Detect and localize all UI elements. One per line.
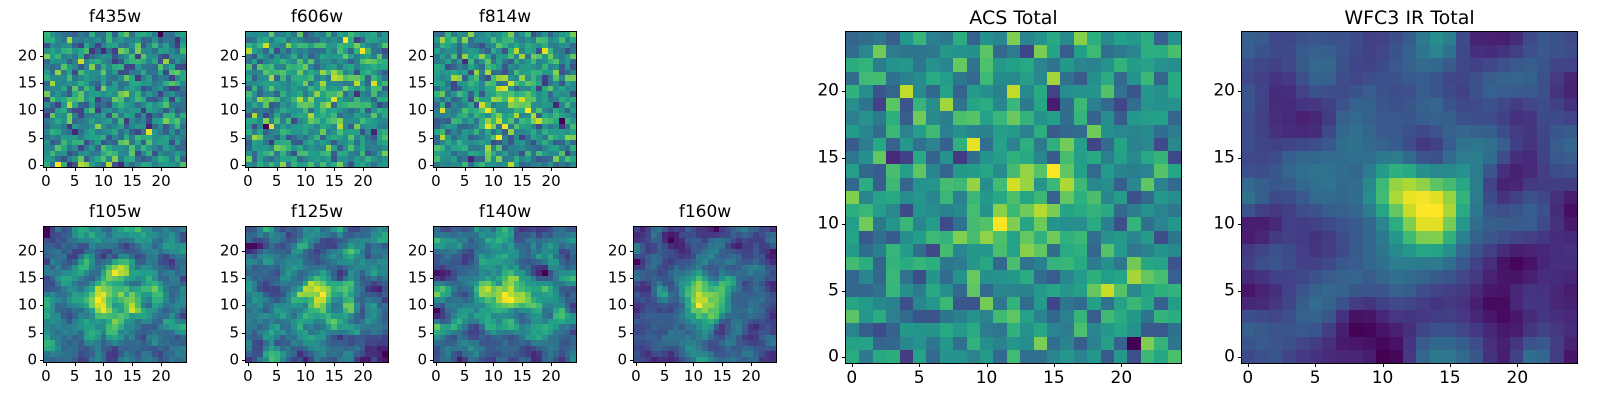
x-tickmark-wfc3-ir-total-20: [1517, 364, 1518, 367]
y-tickmark-wfc3-ir-total-5: [1238, 291, 1241, 292]
heatmap-image-f435w: [44, 32, 186, 167]
x-tickmark-f160w-0: [636, 363, 637, 366]
y-tickmark-f140w-15: [430, 278, 433, 279]
x-tickmark-f435w-0: [46, 168, 47, 171]
y-tick-label-f606w-5: 5: [200, 129, 239, 146]
heatmap-image-f105w: [44, 227, 186, 362]
x-tickmark-f105w-10: [103, 363, 104, 366]
y-tickmark-f140w-10: [430, 305, 433, 306]
y-tick-label-f140w-10: 10: [388, 297, 427, 314]
x-tick-label-f435w-5: 5: [70, 173, 80, 190]
y-tickmark-f105w-10: [40, 305, 43, 306]
y-tick-label-f125w-15: 15: [200, 270, 239, 287]
panel-title-acs-total: ACS Total: [845, 7, 1182, 29]
x-tickmark-acs-total-0: [852, 364, 853, 367]
y-tickmark-f435w-5: [40, 138, 43, 139]
x-tick-label-f814w-0: 0: [431, 173, 441, 190]
x-tick-label-f140w-10: 10: [484, 368, 503, 385]
y-tickmark-f140w-20: [430, 251, 433, 252]
y-tickmark-f105w-15: [40, 278, 43, 279]
x-tickmark-f125w-15: [334, 363, 335, 366]
x-tick-label-f814w-20: 20: [542, 173, 561, 190]
heatmap-image-f160w: [634, 227, 776, 362]
y-tickmark-f125w-15: [242, 278, 245, 279]
y-tick-label-f105w-5: 5: [0, 324, 37, 341]
heatmap-image-f814w: [434, 32, 576, 167]
x-tick-label-f105w-10: 10: [94, 368, 113, 385]
y-tickmark-f606w-20: [242, 56, 245, 57]
y-tickmark-wfc3-ir-total-15: [1238, 158, 1241, 159]
y-tickmark-f140w-5: [430, 333, 433, 334]
y-tickmark-f160w-10: [630, 305, 633, 306]
y-tick-label-f814w-10: 10: [388, 102, 427, 119]
y-tick-label-f606w-10: 10: [200, 102, 239, 119]
heatmap-axes-f435w: [43, 31, 187, 168]
y-tick-label-f606w-15: 15: [200, 75, 239, 92]
y-tick-label-wfc3-ir-total-15: 15: [1196, 148, 1235, 167]
x-tick-label-acs-total-10: 10: [976, 369, 998, 388]
y-tickmark-f105w-5: [40, 333, 43, 334]
x-tick-label-f606w-0: 0: [243, 173, 253, 190]
x-tick-label-f140w-0: 0: [431, 368, 441, 385]
panel-title-f125w: f125w: [245, 202, 389, 222]
x-tick-label-wfc3-ir-total-15: 15: [1439, 369, 1461, 388]
x-tick-label-f814w-15: 15: [513, 173, 532, 190]
x-tickmark-acs-total-10: [987, 364, 988, 367]
x-tick-label-wfc3-ir-total-0: 0: [1242, 369, 1253, 388]
panel-f140w: f140w0510152005101520: [388, 202, 592, 389]
x-tickmark-f606w-20: [363, 168, 364, 171]
y-tick-label-f160w-10: 10: [588, 297, 627, 314]
heatmap-axes-f105w: [43, 226, 187, 363]
heatmap-image-f140w: [434, 227, 576, 362]
y-tickmark-f814w-5: [430, 138, 433, 139]
x-tickmark-f435w-20: [161, 168, 162, 171]
x-tick-label-wfc3-ir-total-5: 5: [1310, 369, 1321, 388]
y-tick-label-f140w-20: 20: [388, 242, 427, 259]
x-tick-label-f125w-10: 10: [296, 368, 315, 385]
y-tickmark-acs-total-5: [842, 291, 845, 292]
y-tickmark-acs-total-10: [842, 224, 845, 225]
x-tick-label-acs-total-15: 15: [1043, 369, 1065, 388]
y-tickmark-f814w-20: [430, 56, 433, 57]
x-tick-label-f140w-5: 5: [460, 368, 470, 385]
x-tick-label-f606w-10: 10: [296, 173, 315, 190]
heatmap-axes-f140w: [433, 226, 577, 363]
x-tickmark-f606w-10: [305, 168, 306, 171]
y-tickmark-acs-total-15: [842, 158, 845, 159]
y-tick-label-f435w-20: 20: [0, 47, 37, 64]
x-tick-label-f814w-5: 5: [460, 173, 470, 190]
panel-f160w: f160w0510152005101520: [588, 202, 792, 389]
x-tick-label-f105w-5: 5: [70, 368, 80, 385]
x-tickmark-f105w-15: [132, 363, 133, 366]
panel-title-f606w: f606w: [245, 7, 389, 27]
x-tick-label-f140w-20: 20: [542, 368, 561, 385]
y-tick-label-acs-total-0: 0: [800, 348, 839, 367]
x-tickmark-f814w-10: [493, 168, 494, 171]
heatmap-image-f125w: [246, 227, 388, 362]
y-tick-label-f435w-10: 10: [0, 102, 37, 119]
y-tickmark-acs-total-20: [842, 91, 845, 92]
x-tickmark-f140w-0: [436, 363, 437, 366]
panel-title-wfc3-ir-total: WFC3 IR Total: [1241, 7, 1578, 29]
x-tick-label-wfc3-ir-total-10: 10: [1372, 369, 1394, 388]
x-tickmark-f105w-0: [46, 363, 47, 366]
x-tickmark-f105w-5: [75, 363, 76, 366]
y-tickmark-f435w-15: [40, 83, 43, 84]
x-tickmark-f140w-10: [493, 363, 494, 366]
y-tick-label-f606w-20: 20: [200, 47, 239, 64]
y-tick-label-f814w-20: 20: [388, 47, 427, 64]
y-tickmark-f160w-20: [630, 251, 633, 252]
y-tick-label-f435w-0: 0: [0, 157, 37, 174]
y-tick-label-acs-total-20: 20: [800, 81, 839, 100]
panel-f606w: f606w0510152005101520: [200, 7, 404, 194]
panel-title-f160w: f160w: [633, 202, 777, 222]
y-tick-label-f160w-20: 20: [588, 242, 627, 259]
x-tickmark-f160w-10: [693, 363, 694, 366]
y-tick-label-f606w-0: 0: [200, 157, 239, 174]
y-tick-label-f814w-5: 5: [388, 129, 427, 146]
y-tickmark-acs-total-0: [842, 357, 845, 358]
panel-title-f105w: f105w: [43, 202, 187, 222]
y-tick-label-f140w-15: 15: [388, 270, 427, 287]
x-tickmark-f125w-20: [363, 363, 364, 366]
y-tickmark-f125w-5: [242, 333, 245, 334]
x-tickmark-f160w-20: [751, 363, 752, 366]
y-tickmark-f160w-5: [630, 333, 633, 334]
heatmap-image-acs-total: [846, 32, 1181, 363]
panel-title-f814w: f814w: [433, 7, 577, 27]
y-tick-label-acs-total-15: 15: [800, 148, 839, 167]
x-tick-label-f160w-15: 15: [713, 368, 732, 385]
x-tickmark-wfc3-ir-total-15: [1450, 364, 1451, 367]
x-tickmark-f606w-5: [277, 168, 278, 171]
y-tickmark-f606w-10: [242, 110, 245, 111]
x-tickmark-acs-total-15: [1054, 364, 1055, 367]
y-tickmark-wfc3-ir-total-0: [1238, 357, 1241, 358]
x-tickmark-f606w-15: [334, 168, 335, 171]
y-tick-label-f814w-15: 15: [388, 75, 427, 92]
x-tick-label-wfc3-ir-total-20: 20: [1507, 369, 1529, 388]
x-tick-label-f435w-15: 15: [123, 173, 142, 190]
y-tick-label-f160w-15: 15: [588, 270, 627, 287]
x-tickmark-f140w-5: [465, 363, 466, 366]
x-tick-label-f105w-0: 0: [41, 368, 51, 385]
x-tick-label-f160w-0: 0: [631, 368, 641, 385]
panel-f435w: f435w0510152005101520: [0, 7, 202, 194]
x-tick-label-f814w-10: 10: [484, 173, 503, 190]
panel-acs-total: ACS Total0510152005101520: [800, 7, 1197, 390]
y-tickmark-f105w-0: [40, 360, 43, 361]
x-tickmark-f160w-15: [722, 363, 723, 366]
panel-wfc3-ir-total: WFC3 IR Total0510152005101520: [1196, 7, 1593, 390]
y-tick-label-f125w-5: 5: [200, 324, 239, 341]
panel-title-f140w: f140w: [433, 202, 577, 222]
y-tickmark-f105w-20: [40, 251, 43, 252]
y-tick-label-f140w-0: 0: [388, 352, 427, 369]
panel-f125w: f125w0510152005101520: [200, 202, 404, 389]
y-tickmark-f125w-20: [242, 251, 245, 252]
y-tickmark-f160w-15: [630, 278, 633, 279]
x-tick-label-f105w-20: 20: [152, 368, 171, 385]
x-tick-label-f435w-20: 20: [152, 173, 171, 190]
x-tick-label-f160w-10: 10: [684, 368, 703, 385]
y-tick-label-f125w-0: 0: [200, 352, 239, 369]
x-tick-label-f125w-5: 5: [272, 368, 282, 385]
y-tick-label-f105w-10: 10: [0, 297, 37, 314]
y-tickmark-f160w-0: [630, 360, 633, 361]
y-tickmark-f606w-5: [242, 138, 245, 139]
x-tick-label-f606w-5: 5: [272, 173, 282, 190]
y-tick-label-f125w-20: 20: [200, 242, 239, 259]
y-tick-label-f105w-15: 15: [0, 270, 37, 287]
y-tickmark-f435w-10: [40, 110, 43, 111]
y-tick-label-f160w-5: 5: [588, 324, 627, 341]
y-tick-label-f160w-0: 0: [588, 352, 627, 369]
y-tick-label-f435w-15: 15: [0, 75, 37, 92]
x-tickmark-f814w-20: [551, 168, 552, 171]
y-tickmark-f606w-15: [242, 83, 245, 84]
x-tickmark-f435w-15: [132, 168, 133, 171]
y-tick-label-f140w-5: 5: [388, 324, 427, 341]
y-tickmark-wfc3-ir-total-20: [1238, 91, 1241, 92]
x-tick-label-acs-total-0: 0: [846, 369, 857, 388]
x-tickmark-f814w-5: [465, 168, 466, 171]
x-tick-label-f435w-0: 0: [41, 173, 51, 190]
x-tickmark-f435w-10: [103, 168, 104, 171]
y-tickmark-f125w-10: [242, 305, 245, 306]
heatmap-image-wfc3-ir-total: [1242, 32, 1577, 363]
x-tick-label-f435w-10: 10: [94, 173, 113, 190]
y-tick-label-f105w-20: 20: [0, 242, 37, 259]
y-tickmark-f140w-0: [430, 360, 433, 361]
y-tick-label-f105w-0: 0: [0, 352, 37, 369]
x-tick-label-f125w-20: 20: [354, 368, 373, 385]
y-tick-label-f125w-10: 10: [200, 297, 239, 314]
y-tickmark-f606w-0: [242, 165, 245, 166]
x-tick-label-acs-total-5: 5: [914, 369, 925, 388]
x-tick-label-f125w-0: 0: [243, 368, 253, 385]
y-tick-label-acs-total-10: 10: [800, 215, 839, 234]
x-tickmark-acs-total-20: [1121, 364, 1122, 367]
heatmap-axes-f160w: [633, 226, 777, 363]
y-tickmark-f125w-0: [242, 360, 245, 361]
x-tickmark-f435w-5: [75, 168, 76, 171]
x-tickmark-f814w-15: [522, 168, 523, 171]
x-tick-label-f105w-15: 15: [123, 368, 142, 385]
x-tick-label-f606w-15: 15: [325, 173, 344, 190]
heatmap-image-f606w: [246, 32, 388, 167]
heatmap-axes-acs-total: [845, 31, 1182, 364]
heatmap-axes-wfc3-ir-total: [1241, 31, 1578, 364]
y-tickmark-f435w-20: [40, 56, 43, 57]
x-tickmark-acs-total-5: [919, 364, 920, 367]
panel-title-f435w: f435w: [43, 7, 187, 27]
x-tick-label-f606w-20: 20: [354, 173, 373, 190]
x-tick-label-f160w-20: 20: [742, 368, 761, 385]
x-tick-label-f160w-5: 5: [660, 368, 670, 385]
panel-f814w: f814w0510152005101520: [388, 7, 592, 194]
x-tickmark-f125w-0: [248, 363, 249, 366]
y-tick-label-wfc3-ir-total-10: 10: [1196, 215, 1235, 234]
x-tick-label-f140w-15: 15: [513, 368, 532, 385]
x-tickmark-f125w-10: [305, 363, 306, 366]
y-tick-label-wfc3-ir-total-0: 0: [1196, 348, 1235, 367]
heatmap-axes-f125w: [245, 226, 389, 363]
x-tickmark-wfc3-ir-total-10: [1383, 364, 1384, 367]
y-tick-label-f814w-0: 0: [388, 157, 427, 174]
y-tickmark-f814w-0: [430, 165, 433, 166]
x-tickmark-f140w-20: [551, 363, 552, 366]
y-tick-label-wfc3-ir-total-20: 20: [1196, 81, 1235, 100]
x-tickmark-wfc3-ir-total-0: [1248, 364, 1249, 367]
heatmap-axes-f606w: [245, 31, 389, 168]
x-tick-label-acs-total-20: 20: [1111, 369, 1133, 388]
y-tickmark-f814w-10: [430, 110, 433, 111]
x-tickmark-f814w-0: [436, 168, 437, 171]
y-tick-label-f435w-5: 5: [0, 129, 37, 146]
x-tickmark-f105w-20: [161, 363, 162, 366]
y-tick-label-acs-total-5: 5: [800, 281, 839, 300]
x-tickmark-f140w-15: [522, 363, 523, 366]
heatmap-axes-f814w: [433, 31, 577, 168]
figure-canvas: f435w0510152005101520f606w05101520051015…: [0, 0, 1600, 400]
panel-f105w: f105w0510152005101520: [0, 202, 202, 389]
y-tickmark-f435w-0: [40, 165, 43, 166]
x-tickmark-f125w-5: [277, 363, 278, 366]
x-tickmark-f160w-5: [665, 363, 666, 366]
x-tick-label-f125w-15: 15: [325, 368, 344, 385]
x-tickmark-wfc3-ir-total-5: [1315, 364, 1316, 367]
y-tickmark-wfc3-ir-total-10: [1238, 224, 1241, 225]
x-tickmark-f606w-0: [248, 168, 249, 171]
y-tickmark-f814w-15: [430, 83, 433, 84]
y-tick-label-wfc3-ir-total-5: 5: [1196, 281, 1235, 300]
